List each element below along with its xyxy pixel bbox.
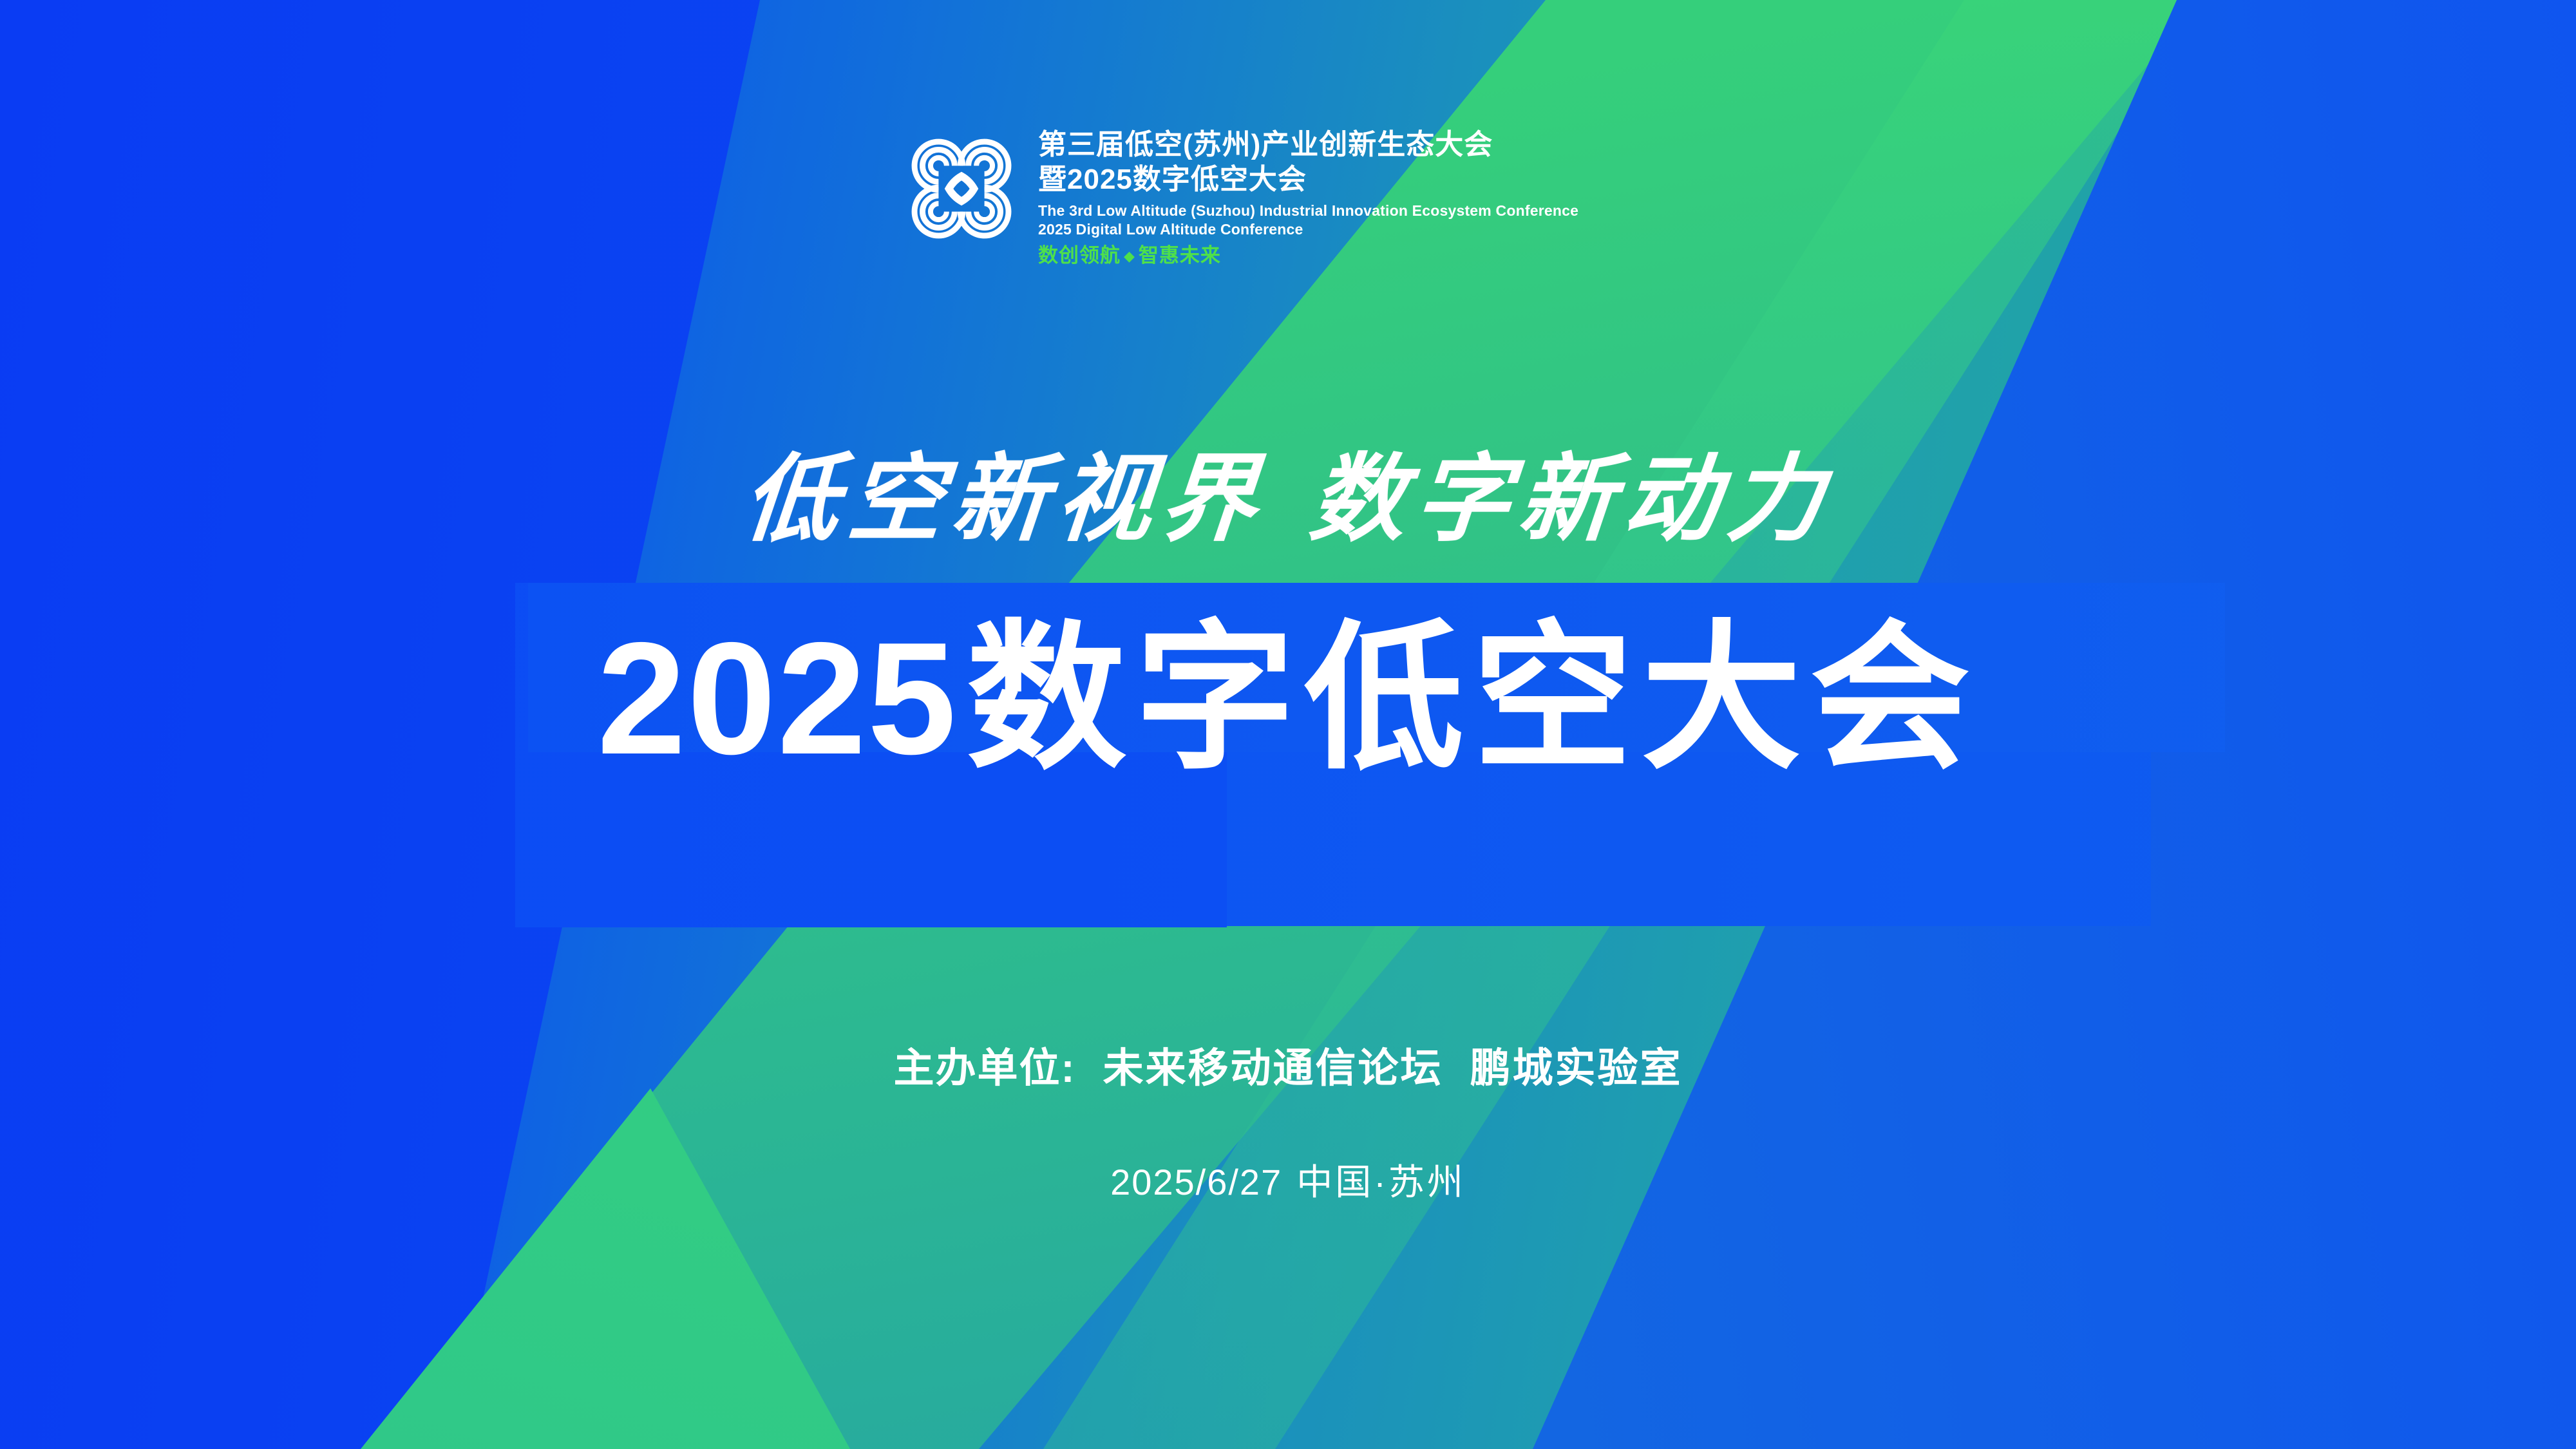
slogan-separator-icon: ◆ (1124, 248, 1135, 264)
main-title-year: 2025 (597, 609, 958, 788)
event-date: 2025/6/27 (1110, 1162, 1282, 1202)
poster-tagline: 低空新视界数字新动力 (0, 444, 2576, 553)
event-date-location: 2025/6/27中国·苏州 (0, 1159, 2576, 1206)
organizer-1: 未来移动通信论坛 (1103, 1046, 1443, 1091)
tagline-part-1: 低空新视界 (739, 442, 1270, 554)
conference-poster: 第三届低空(苏州)产业创新生态大会 暨2025数字低空大会 The 3rd Lo… (0, 0, 2576, 1449)
conference-title-cn-line1: 第三届低空(苏州)产业创新生态大会 (1038, 129, 1578, 161)
slogan-part-2: 智惠未来 (1139, 244, 1221, 267)
organizers-line: 主办单位:未来移动通信论坛鹏城实验室 (0, 1043, 2576, 1094)
page-title: 2025数字低空大会 (0, 612, 2576, 784)
tagline-part-2: 数字新动力 (1305, 442, 1837, 554)
drone-signal-logo-icon (904, 130, 1019, 247)
organizers-label: 主办单位: (894, 1046, 1076, 1091)
main-title-name: 数字低空大会 (967, 609, 1979, 788)
event-location: 中国·苏州 (1296, 1162, 1466, 1202)
conference-title-cn-line2: 暨2025数字低空大会 (1038, 164, 1578, 196)
conference-slogan: 数创领航◆智惠未来 (1038, 244, 1578, 268)
conference-lockup: 第三届低空(苏州)产业创新生态大会 暨2025数字低空大会 The 3rd Lo… (904, 126, 1578, 268)
conference-title-en-line1: The 3rd Low Altitude (Suzhou) Industrial… (1038, 202, 1578, 220)
conference-title-en-line2: 2025 Digital Low Altitude Conference (1038, 220, 1578, 239)
slogan-part-1: 数创领航 (1038, 244, 1121, 267)
organizer-2: 鹏城实验室 (1470, 1046, 1682, 1091)
lockup-text: 第三届低空(苏州)产业创新生态大会 暨2025数字低空大会 The 3rd Lo… (1038, 126, 1578, 268)
